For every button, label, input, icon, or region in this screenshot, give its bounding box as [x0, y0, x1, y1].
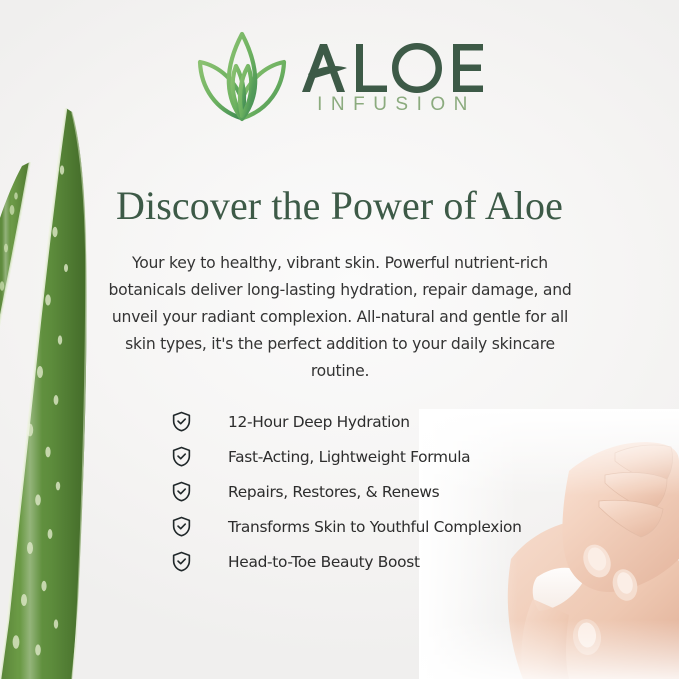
shield-check-icon [170, 410, 193, 433]
list-item-label: 12-Hour Deep Hydration [228, 413, 410, 431]
list-item: Head-to-Toe Beauty Boost [170, 544, 522, 579]
list-item: Fast-Acting, Lightweight Formula [170, 439, 522, 474]
shield-check-icon [170, 515, 193, 538]
brand-logo: INFUSION [0, 26, 679, 126]
list-item: 12-Hour Deep Hydration [170, 404, 522, 439]
page-title: Discover the Power of Aloe [0, 182, 679, 229]
list-item: Transforms Skin to Youthful Complexion [170, 509, 522, 544]
brand-wordmark-infusion: INFUSION [300, 95, 485, 114]
list-item: Repairs, Restores, & Renews [170, 474, 522, 509]
shield-check-icon [170, 480, 193, 503]
product-infographic: INFUSION Discover the Power of Aloe Your… [0, 0, 679, 679]
shield-check-icon [170, 445, 193, 468]
brand-wordmark-aloe [300, 42, 485, 94]
benefits-list: 12-Hour Deep Hydration Fast-Acting, Ligh… [170, 404, 522, 579]
shield-check-icon [170, 550, 193, 573]
list-item-label: Head-to-Toe Beauty Boost [228, 553, 420, 571]
intro-paragraph: Your key to healthy, vibrant skin. Power… [105, 250, 575, 386]
list-item-label: Repairs, Restores, & Renews [228, 483, 439, 501]
aloe-lotus-leaf-mark-icon [194, 26, 290, 126]
list-item-label: Transforms Skin to Youthful Complexion [228, 518, 522, 536]
list-item-label: Fast-Acting, Lightweight Formula [228, 448, 470, 466]
